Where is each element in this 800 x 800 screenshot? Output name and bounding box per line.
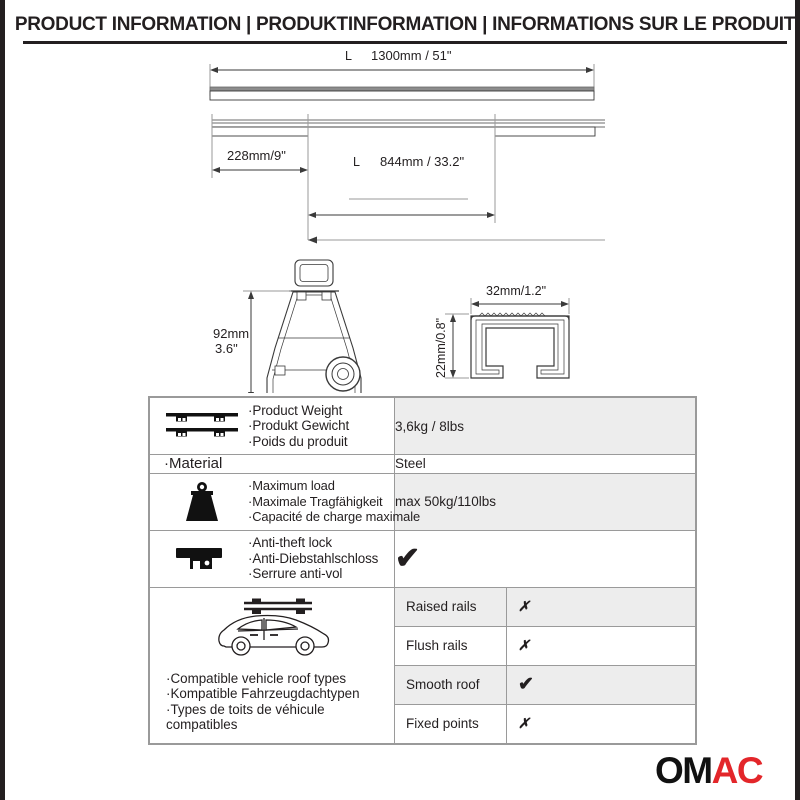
- lock-label-text: ·Anti-theft lock ·Anti-Diebstahlschloss …: [248, 535, 378, 582]
- page-header: PRODUCT INFORMATION | PRODUKTINFORMATION…: [5, 14, 800, 36]
- maxload-label-text: ·Maximum load ·Maximale Tragfähigkeit ·C…: [248, 478, 420, 525]
- roof-type-mark: ✔: [507, 665, 696, 704]
- weight-value: 3,6kg / 8lbs: [395, 398, 696, 455]
- roof-type-name: Smooth roof: [395, 665, 507, 704]
- lock-label-cell: ·Anti-theft lock ·Anti-Diebstahlschloss …: [150, 530, 395, 587]
- roof-label-fr: ·Types de toits de véhicule: [166, 702, 325, 717]
- logo-part-om: OM: [655, 750, 712, 791]
- material-label-text: ·Material: [150, 455, 394, 472]
- maxload-label-cell: ·Maximum load ·Maximale Tragfähigkeit ·C…: [150, 473, 395, 530]
- dim-span-prefix: L: [353, 155, 360, 169]
- weight-icon: [156, 481, 248, 523]
- roof-label-fr2: compatibles: [166, 717, 237, 732]
- weight-label-cell: ·Product Weight ·Produkt Gewicht ·Poids …: [150, 398, 395, 455]
- roof-type-mark: ✗: [507, 704, 696, 743]
- roof-type-row: Fixed points ✗: [395, 704, 695, 743]
- roof-type-mark: ✗: [507, 626, 696, 665]
- maxload-label-fr: ·Capacité de charge maximale: [248, 509, 420, 524]
- flush-rails-mark: ✗: [518, 637, 530, 653]
- dim-bar-total-prefix: L: [345, 49, 352, 63]
- car-with-rack-icon: [208, 596, 336, 665]
- roof-types-table: Raised rails ✗ Flush rails ✗ Smooth roof…: [395, 588, 695, 743]
- dim-profile-width-value: 32mm/1.2": [486, 284, 546, 298]
- omac-logo: OMAC: [655, 752, 762, 789]
- table-row: ·Material Steel: [150, 455, 696, 474]
- roof-type-name: Raised rails: [395, 588, 507, 627]
- weight-label-de: ·Produkt Gewicht: [248, 418, 349, 433]
- dim-foot-height-line2: 3.6": [215, 341, 238, 356]
- roof-type-mark: ✗: [507, 588, 696, 627]
- table-row: ·Maximum load ·Maximale Tragfähigkeit ·C…: [150, 473, 696, 530]
- raised-rails-mark: ✗: [518, 598, 530, 614]
- roof-type-name: Flush rails: [395, 626, 507, 665]
- roof-type-name: Fixed points: [395, 704, 507, 743]
- roof-bars-icon: [156, 409, 248, 443]
- logo-part-ac: AC: [712, 750, 762, 791]
- maxload-label-de: ·Maximale Tragfähigkeit: [248, 494, 383, 509]
- material-label-cell: ·Material: [150, 455, 395, 474]
- dim-foot-offset-value: 228mm/9": [227, 148, 286, 163]
- product-information-page: PRODUCT INFORMATION | PRODUKTINFORMATION…: [0, 0, 800, 800]
- lock-label-de: ·Anti-Diebstahlschloss: [248, 551, 378, 566]
- specification-table: ·Product Weight ·Produkt Gewicht ·Poids …: [148, 396, 697, 745]
- roof-types-value-cell: Raised rails ✗ Flush rails ✗ Smooth roof…: [395, 587, 696, 743]
- lock-icon: [156, 542, 248, 576]
- roof-type-row: Smooth roof ✔: [395, 665, 695, 704]
- lock-check-mark: ✔: [395, 542, 420, 575]
- technical-drawings: L 1300mm / 51" 228mm/9" L 844mm / 33.2" …: [5, 48, 800, 393]
- weight-label-fr: ·Poids du produit: [248, 434, 348, 449]
- lock-label-en: ·Anti-theft lock: [248, 535, 332, 550]
- lock-value: ✔: [395, 530, 696, 587]
- header-divider: [23, 41, 787, 44]
- dim-span-value: 844mm / 33.2": [380, 154, 464, 169]
- roof-label-en: ·Compatible vehicle roof types: [166, 671, 346, 686]
- table-row: ·Product Weight ·Produkt Gewicht ·Poids …: [150, 398, 696, 455]
- fixed-points-mark: ✗: [518, 715, 530, 731]
- smooth-roof-mark: ✔: [518, 674, 534, 695]
- table-row: ·Anti-theft lock ·Anti-Diebstahlschloss …: [150, 530, 696, 587]
- maxload-label-en: ·Maximum load: [248, 478, 335, 493]
- page-title: PRODUCT INFORMATION | PRODUKTINFORMATION…: [5, 14, 800, 36]
- material-value: Steel: [395, 455, 696, 474]
- roof-type-row: Flush rails ✗: [395, 626, 695, 665]
- weight-label-text: ·Product Weight ·Produkt Gewicht ·Poids …: [248, 403, 349, 450]
- roof-label-de: ·Kompatible Fahrzeugdachtypen: [166, 686, 360, 701]
- roof-types-label-cell: ·Compatible vehicle roof types ·Kompatib…: [150, 587, 395, 743]
- dim-foot-height-line1: 92mm: [213, 326, 249, 341]
- table-row: ·Compatible vehicle roof types ·Kompatib…: [150, 587, 696, 743]
- dim-bar-total-value: 1300mm / 51": [371, 48, 452, 63]
- maxload-value: max 50kg/110lbs: [395, 473, 696, 530]
- lock-label-fr: ·Serrure anti-vol: [248, 566, 342, 581]
- roof-type-row: Raised rails ✗: [395, 588, 695, 627]
- roof-types-label-text: ·Compatible vehicle roof types ·Kompatib…: [154, 671, 360, 733]
- dim-profile-height-value: 22mm/0.8": [434, 318, 448, 378]
- weight-label-en: ·Product Weight: [248, 403, 342, 418]
